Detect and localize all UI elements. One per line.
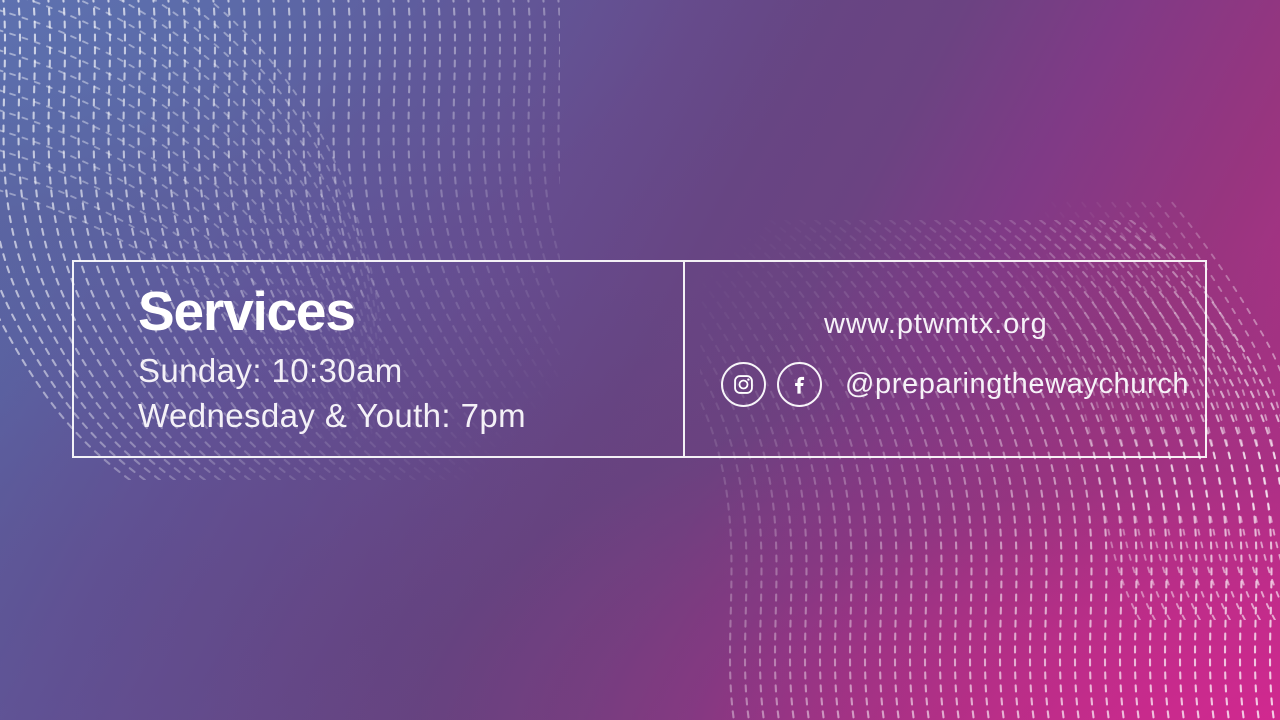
slide-canvas: Services Sunday: 10:30am Wednesday & You… <box>0 0 1280 720</box>
service-time-sunday: Sunday: 10:30am <box>138 354 403 387</box>
social-handle: @preparingthewaychurch <box>845 370 1189 399</box>
website-url: www.ptwmtx.org <box>824 310 1048 339</box>
page-title: Services <box>138 284 355 339</box>
instagram-icon[interactable] <box>721 362 766 407</box>
content-frame: Services Sunday: 10:30am Wednesday & You… <box>72 260 1207 458</box>
facebook-icon[interactable] <box>777 362 822 407</box>
contact-panel: www.ptwmtx.org @preparingthewaychurch <box>685 262 1205 456</box>
service-time-wednesday: Wednesday & Youth: 7pm <box>138 399 526 432</box>
social-links-row: @preparingthewaychurch <box>721 362 1189 407</box>
services-panel: Services Sunday: 10:30am Wednesday & You… <box>74 262 683 456</box>
